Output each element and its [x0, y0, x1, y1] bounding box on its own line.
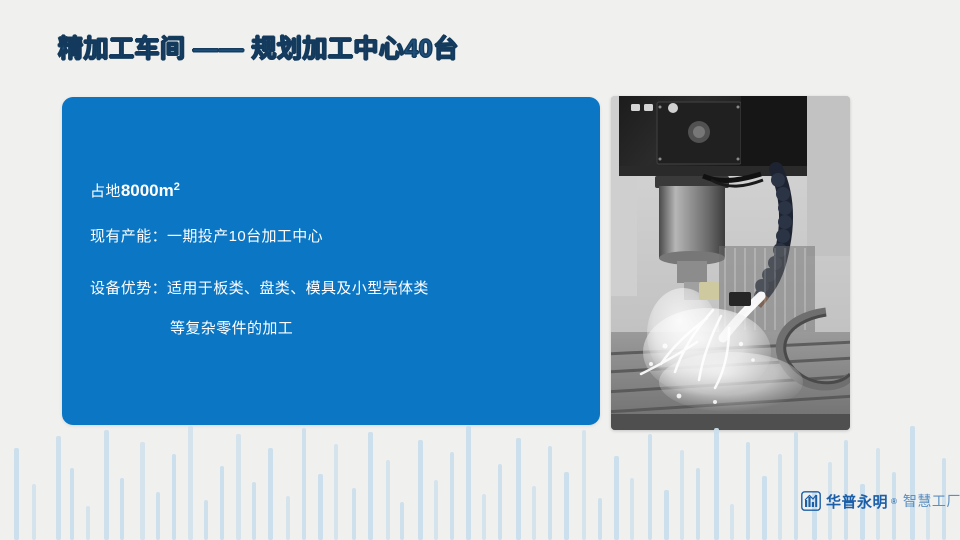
page-title: 精加工车间 —— 规划加工中心40台 [58, 32, 459, 66]
decoration-bar [400, 502, 404, 540]
panel-line-advantage: 设备优势：适用于板类、盘类、模具及小型壳体类 [90, 279, 429, 299]
decoration-bar [696, 468, 700, 540]
decoration-bar [598, 498, 602, 540]
machining-center-photo [611, 96, 850, 430]
decoration-bar [220, 466, 224, 540]
decoration-bar [450, 452, 454, 540]
decoration-bar [104, 430, 109, 540]
decoration-bar [140, 442, 145, 540]
decoration-bar [762, 476, 767, 540]
decoration-bar [286, 496, 290, 540]
decoration-bar [434, 480, 438, 540]
logo-brand-text: 华普永明 [826, 491, 888, 512]
decoration-bar [548, 446, 552, 540]
decoration-bar [204, 500, 208, 540]
area-unit-superscript: 2 [174, 181, 180, 193]
decoration-bar [714, 428, 719, 540]
slide-canvas: 精加工车间 —— 规划加工中心40台 占地8000m2 现有产能：一期投产10台… [0, 0, 960, 540]
decoration-bar [418, 440, 423, 540]
factory-mark-icon [801, 491, 821, 511]
decoration-bar [120, 478, 124, 540]
company-logo: 华普永明 ® 智慧工厂 [801, 489, 960, 513]
bar-pattern-decoration [0, 424, 960, 540]
decoration-bar [386, 460, 390, 540]
decoration-bar [630, 478, 634, 540]
decoration-bar [498, 464, 502, 540]
decoration-bar [56, 436, 61, 540]
decoration-bar [334, 444, 338, 540]
logo-subtitle: 智慧工厂 [903, 491, 960, 511]
decoration-bar [680, 450, 684, 540]
decoration-bar [564, 472, 569, 540]
decoration-bar [86, 506, 90, 540]
panel-line-advantage-continued: 等复杂零件的加工 [170, 319, 293, 339]
decoration-bar [794, 432, 798, 540]
area-value: 8000 [121, 181, 159, 200]
decoration-bar [746, 442, 750, 540]
logo-trademark: ® [891, 497, 897, 506]
decoration-bar [482, 494, 486, 540]
decoration-bar [302, 428, 306, 540]
decoration-bar [156, 492, 160, 540]
decoration-bar [14, 448, 19, 540]
decoration-bar [252, 482, 256, 540]
panel-line-capacity: 现有产能：一期投产10台加工中心 [90, 227, 323, 247]
area-prefix: 占地 [90, 183, 121, 200]
decoration-bar [532, 486, 536, 540]
decoration-bar [466, 426, 471, 540]
decoration-bar [32, 484, 36, 540]
decoration-bar [730, 504, 734, 540]
decoration-bar [188, 426, 193, 540]
decoration-bar [778, 454, 782, 540]
panel-line-area: 占地8000m2 [90, 177, 180, 202]
decoration-bar [648, 434, 652, 540]
machining-center-photo-graphic [611, 96, 850, 430]
decoration-bar [70, 468, 74, 540]
info-panel: 占地8000m2 现有产能：一期投产10台加工中心 设备优势：适用于板类、盘类、… [62, 97, 600, 425]
decoration-bar [368, 432, 373, 540]
decoration-bar [236, 434, 241, 540]
decoration-bar [664, 490, 669, 540]
decoration-bar [172, 454, 176, 540]
decoration-bar [516, 438, 521, 540]
decoration-bar [352, 488, 356, 540]
decoration-bar [910, 426, 915, 540]
decoration-bar [582, 430, 586, 540]
decoration-bar [318, 474, 323, 540]
decoration-bar [614, 456, 619, 540]
area-unit: m [159, 181, 174, 200]
decoration-bar [268, 448, 273, 540]
